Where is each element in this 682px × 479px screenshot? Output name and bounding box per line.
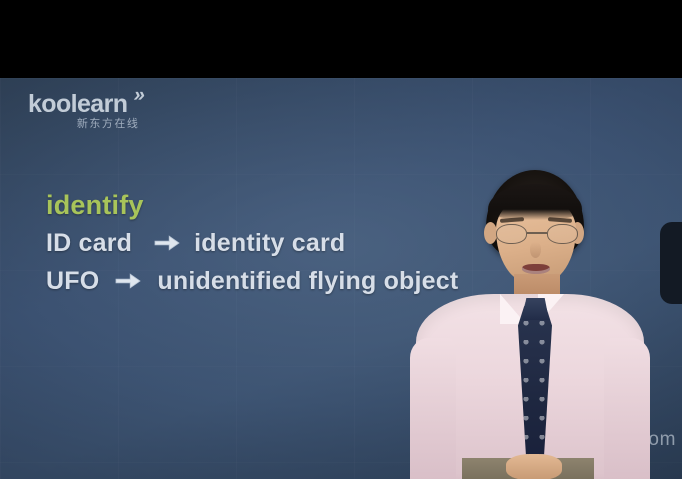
arrow-right-icon [115, 270, 141, 292]
headword-text: identify [46, 190, 144, 221]
presenter-glasses [492, 224, 582, 244]
entry-term-2: UFO [46, 267, 99, 296]
presenter-hands [506, 454, 562, 479]
presenter-arm-right [604, 338, 650, 479]
presenter-figure [408, 170, 652, 479]
entry-expansion-1: identity card [194, 229, 345, 258]
presenter-nose [530, 242, 541, 258]
logo-subtitle: 新东方在线 [28, 119, 143, 130]
slide-line-entry-1: ID card identity card [46, 224, 458, 262]
slide-text-block: identify ID card identity card UFO [46, 186, 458, 300]
slide-line-headword: identify [46, 186, 458, 224]
presenter-arm-left [410, 338, 456, 479]
koolearn-logo: koolearn » 新东方在线 [28, 92, 143, 130]
presenter-tie-knot [522, 298, 549, 320]
logo-wordmark: koolearn [28, 92, 143, 117]
video-player-screen: koolearn » 新东方在线 identify ID card identi… [0, 0, 682, 479]
edge-control-panel[interactable] [660, 222, 682, 304]
glasses-lens-left [496, 224, 527, 244]
entry-term-1: ID card [46, 229, 132, 258]
arrow-right-icon [154, 232, 180, 254]
glasses-bridge [527, 232, 547, 234]
presenter-mouth [522, 264, 550, 274]
letterbox-bar-top [0, 0, 682, 78]
slide-line-entry-2: UFO unidentified flying object [46, 262, 458, 300]
glasses-lens-right [547, 224, 578, 244]
video-stage[interactable]: koolearn » 新东方在线 identify ID card identi… [0, 78, 682, 479]
